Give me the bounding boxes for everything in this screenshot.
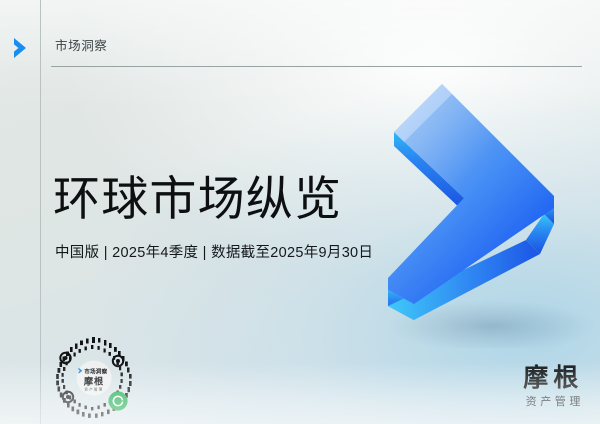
header-label: 市场洞察	[55, 35, 107, 54]
chevron-3d-graphic	[368, 72, 600, 348]
brand-wordmark: 摩根	[523, 365, 584, 390]
hero-block: 环球市场纵览 中国版 | 2025年4季度 | 数据截至2025年9月30日	[53, 175, 373, 262]
wechat-miniprogram-qr-code[interactable]: 市场洞察 摩根 资产管理	[52, 336, 136, 420]
page-title: 环球市场纵览	[53, 175, 373, 223]
slide-canvas: 市场洞察	[0, 0, 600, 424]
svg-text:摩根: 摩根	[84, 376, 104, 388]
chevron-right-icon	[10, 36, 32, 60]
brand-lockup: 摩根 资产管理	[523, 365, 584, 408]
brand-tagline: 资产管理	[523, 397, 584, 408]
svg-text:资产管理: 资产管理	[84, 387, 103, 392]
svg-text:市场洞察: 市场洞察	[84, 367, 107, 375]
page-header: 市场洞察	[41, 30, 582, 74]
header-rule	[51, 66, 582, 67]
page-subtitle: 中国版 | 2025年4季度 | 数据截至2025年9月30日	[55, 241, 373, 262]
